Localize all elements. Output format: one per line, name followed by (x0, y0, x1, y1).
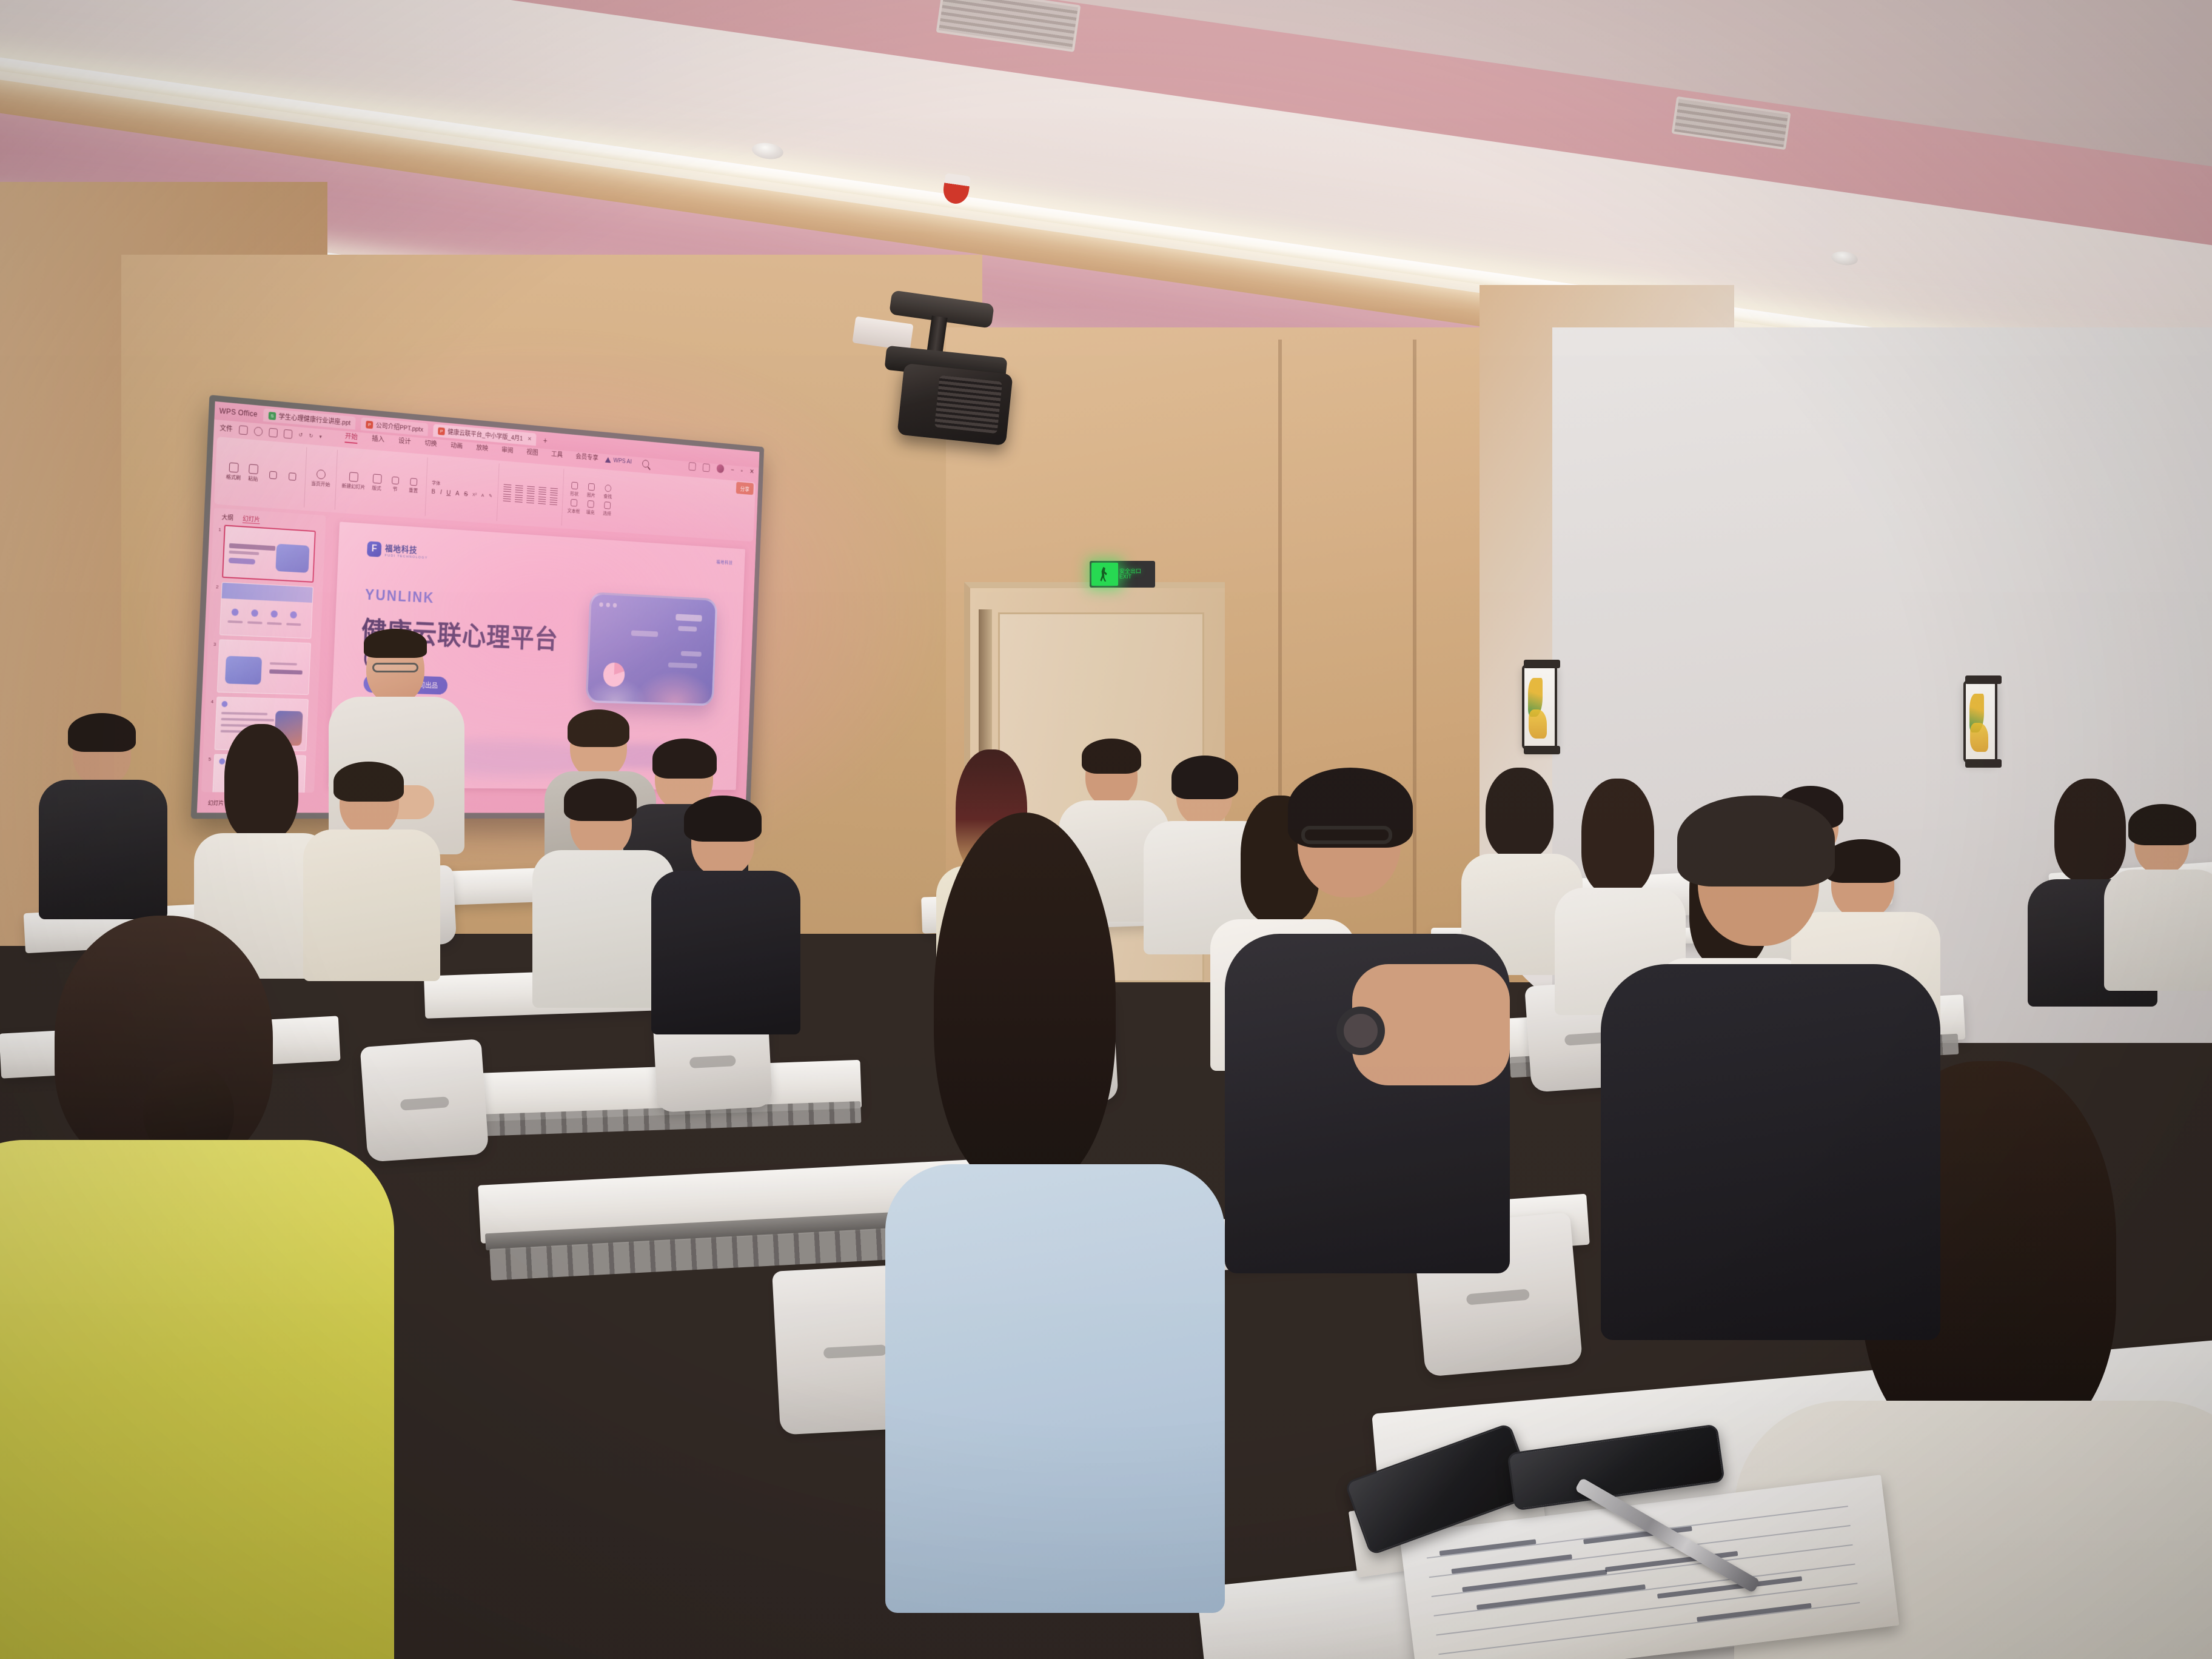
art-panel-cap (1965, 759, 2002, 768)
ribbon-group-paragraph (497, 463, 564, 526)
document-tab-label: 学生心理健康行业讲座.ppt (278, 412, 350, 427)
text-direction-icon[interactable] (549, 497, 557, 505)
chair[interactable] (360, 1039, 489, 1162)
indent-increase-icon[interactable] (538, 487, 546, 495)
wall-seam (1413, 340, 1416, 970)
ribbon-group-slides: 新建幻灯片 版式 节 (335, 450, 427, 516)
scissors-icon (269, 471, 277, 479)
search-icon[interactable] (642, 460, 649, 468)
thumbnail-item[interactable]: 3 (208, 639, 318, 695)
exit-sign: 安全出口 EXIT (1090, 561, 1155, 588)
textbox-icon (571, 499, 577, 507)
ribbon-group-slideshow: 当页开始 (304, 447, 338, 510)
thumbnail-slide-2[interactable] (220, 582, 313, 639)
section-icon (392, 476, 399, 484)
avatar[interactable] (716, 464, 724, 473)
shapes-button[interactable]: 形状 (568, 481, 581, 497)
start-from-current-label: 当页开始 (311, 480, 330, 488)
ribbon-group-clipboard: 格式刷 粘贴 (219, 440, 307, 508)
tab-slideshow[interactable]: 放映 (476, 443, 488, 455)
tab-review[interactable]: 审阅 (501, 445, 514, 457)
bold-button[interactable]: B (431, 488, 435, 495)
align-left-icon[interactable] (503, 494, 511, 501)
picture-label: 图片 (587, 491, 595, 498)
classroom-presentation-scene: WPS Office S 学生心理健康行业讲座.ppt P 公司介绍PPT.pp… (0, 0, 2212, 1659)
tab-animations[interactable]: 动画 (451, 440, 463, 453)
italic-button[interactable]: I (440, 489, 442, 496)
tab-member[interactable]: 会员专享 (575, 452, 598, 464)
format-painter-icon (229, 463, 239, 473)
section-label: 节 (393, 485, 398, 492)
thumbnail-number: 3 (210, 639, 216, 647)
numbering-icon[interactable] (515, 485, 523, 493)
wps-app-logo: WPS Office (219, 407, 258, 419)
fill-icon (588, 500, 594, 508)
print-icon[interactable] (269, 427, 278, 437)
paste-label: 粘贴 (248, 475, 258, 483)
file-menu-button[interactable]: 文件 (220, 423, 233, 434)
format-painter-button[interactable]: 格式刷 (226, 462, 241, 481)
format-painter-label: 格式刷 (226, 473, 241, 481)
cloud-icon[interactable] (254, 426, 263, 436)
shapes-icon (571, 482, 578, 490)
tab-slides[interactable]: 幻灯片 (243, 514, 260, 525)
thumbnail-number: 4 (207, 696, 213, 704)
select-button[interactable]: 选择 (601, 501, 614, 517)
ribbon-group-font: 字体 B I U A S X² A ✎ (425, 457, 499, 521)
brand-logo: F 福地科技 FUDI TECHNOLOGY (367, 541, 429, 560)
thumbnail-number: 1 (215, 525, 221, 533)
picture-icon (588, 483, 595, 491)
play-icon (317, 469, 326, 480)
wall-art-panel (1522, 665, 1557, 749)
new-slide-label: 新建幻灯片 (341, 482, 365, 491)
tab-outline[interactable]: 大纲 (221, 512, 233, 522)
close-tab-icon[interactable]: ✕ (528, 436, 532, 443)
new-slide-icon (349, 472, 358, 482)
minimize-icon[interactable]: − (731, 466, 734, 474)
copy-button[interactable] (284, 472, 300, 481)
reset-icon (410, 478, 417, 486)
thumbnail-slide-1[interactable] (222, 525, 316, 582)
find-button[interactable]: 查找 (602, 484, 615, 500)
tab-design[interactable]: 设计 (398, 436, 411, 449)
font-name-box[interactable]: 字体 (432, 480, 440, 486)
layout-label: 版式 (372, 484, 381, 492)
fill-button[interactable]: 填充 (584, 500, 597, 516)
thumbnail-number: 2 (213, 581, 219, 589)
indent-decrease-icon[interactable] (527, 486, 535, 494)
shapes-label: 形状 (570, 490, 578, 497)
art-panel-cap (1965, 675, 2002, 684)
cut-button[interactable] (265, 471, 280, 480)
tab-home[interactable]: 开始 (344, 431, 358, 444)
document-tab-label: 公司介绍PPT.pptx (375, 420, 423, 434)
start-from-current-button[interactable]: 当页开始 (311, 469, 331, 488)
layout-button[interactable]: 版式 (369, 474, 384, 492)
exit-sign-en: EXIT (1119, 574, 1141, 580)
line-spacing-icon[interactable] (550, 488, 558, 496)
settings-icon[interactable] (702, 463, 709, 472)
slide-corner-mark: 福地科技 (716, 559, 733, 566)
align-center-icon[interactable] (515, 495, 523, 503)
text-effect-button[interactable]: A (455, 490, 460, 497)
tab-transitions[interactable]: 切换 (424, 438, 437, 451)
presentation-icon: P (366, 420, 373, 429)
art-panel-cap (1524, 746, 1560, 754)
new-tab-button[interactable]: + (541, 435, 549, 445)
search-icon (605, 484, 611, 492)
tab-view[interactable]: 视图 (526, 447, 538, 459)
layout-icon (372, 474, 381, 483)
wall-art-panel (1963, 680, 1997, 763)
exit-sign-text: 安全出口 EXIT (1119, 569, 1141, 580)
align-right-icon[interactable] (526, 495, 534, 503)
projector-vent-grill (934, 375, 1002, 434)
select-icon (604, 501, 611, 509)
ai-sparkle-icon (605, 457, 611, 463)
paste-button[interactable]: 粘贴 (246, 464, 261, 483)
tab-insert[interactable]: 插入 (372, 434, 384, 446)
save-icon[interactable] (239, 425, 248, 435)
copy-icon (288, 472, 296, 481)
thumbnail-item[interactable]: 1 (213, 525, 323, 583)
document-tab-label: 健康云联平台_中小学版_4月1 (447, 427, 523, 443)
picture-button[interactable]: 图片 (585, 483, 598, 498)
reset-label: 重置 (409, 486, 418, 494)
fudi-logo-icon: F (367, 541, 381, 557)
close-icon[interactable]: ✕ (749, 468, 754, 475)
chevron-down-icon[interactable]: ▾ (319, 433, 322, 440)
running-person-icon (1091, 563, 1118, 586)
section-button[interactable]: 节 (388, 476, 403, 493)
strikethrough-button[interactable]: S (464, 491, 468, 498)
thumbnail-item[interactable]: 2 (210, 581, 320, 639)
presentation-icon: P (438, 427, 445, 435)
slide-illustration (586, 592, 718, 706)
cowork-icon[interactable] (688, 462, 695, 471)
art-panel-cap (1524, 660, 1560, 668)
ribbon-group-drawing: 形状 图片 查找 (561, 469, 620, 529)
undo-icon[interactable]: ↺ (298, 431, 303, 438)
select-label: 选择 (603, 510, 611, 517)
fill-label: 填充 (586, 509, 595, 516)
find-label: 查找 (603, 493, 612, 500)
superscript-icon[interactable]: X² (472, 492, 477, 497)
bullets-icon[interactable] (503, 484, 511, 492)
tab-tools[interactable]: 工具 (551, 449, 563, 461)
print-preview-icon[interactable] (284, 429, 293, 438)
underline-button[interactable]: U (446, 489, 451, 497)
justify-icon[interactable] (538, 497, 546, 504)
spreadsheet-icon: S (268, 412, 276, 420)
reset-button[interactable]: 重置 (406, 477, 421, 494)
thumbnail-slide-3[interactable] (217, 639, 311, 695)
paste-icon (249, 464, 258, 474)
redo-icon[interactable]: ↻ (309, 432, 313, 439)
maximize-icon[interactable]: ▫ (741, 467, 743, 475)
slide-kicker: YUNLINK (365, 587, 435, 607)
textbox-button[interactable]: 文本框 (567, 498, 580, 514)
new-slide-button[interactable]: 新建幻灯片 (341, 471, 366, 491)
textbox-label: 文本框 (568, 507, 580, 515)
highlight-icon[interactable]: ✎ (489, 493, 492, 498)
font-color-icon[interactable]: A (481, 492, 484, 498)
thumbnail-number: 5 (205, 754, 211, 762)
